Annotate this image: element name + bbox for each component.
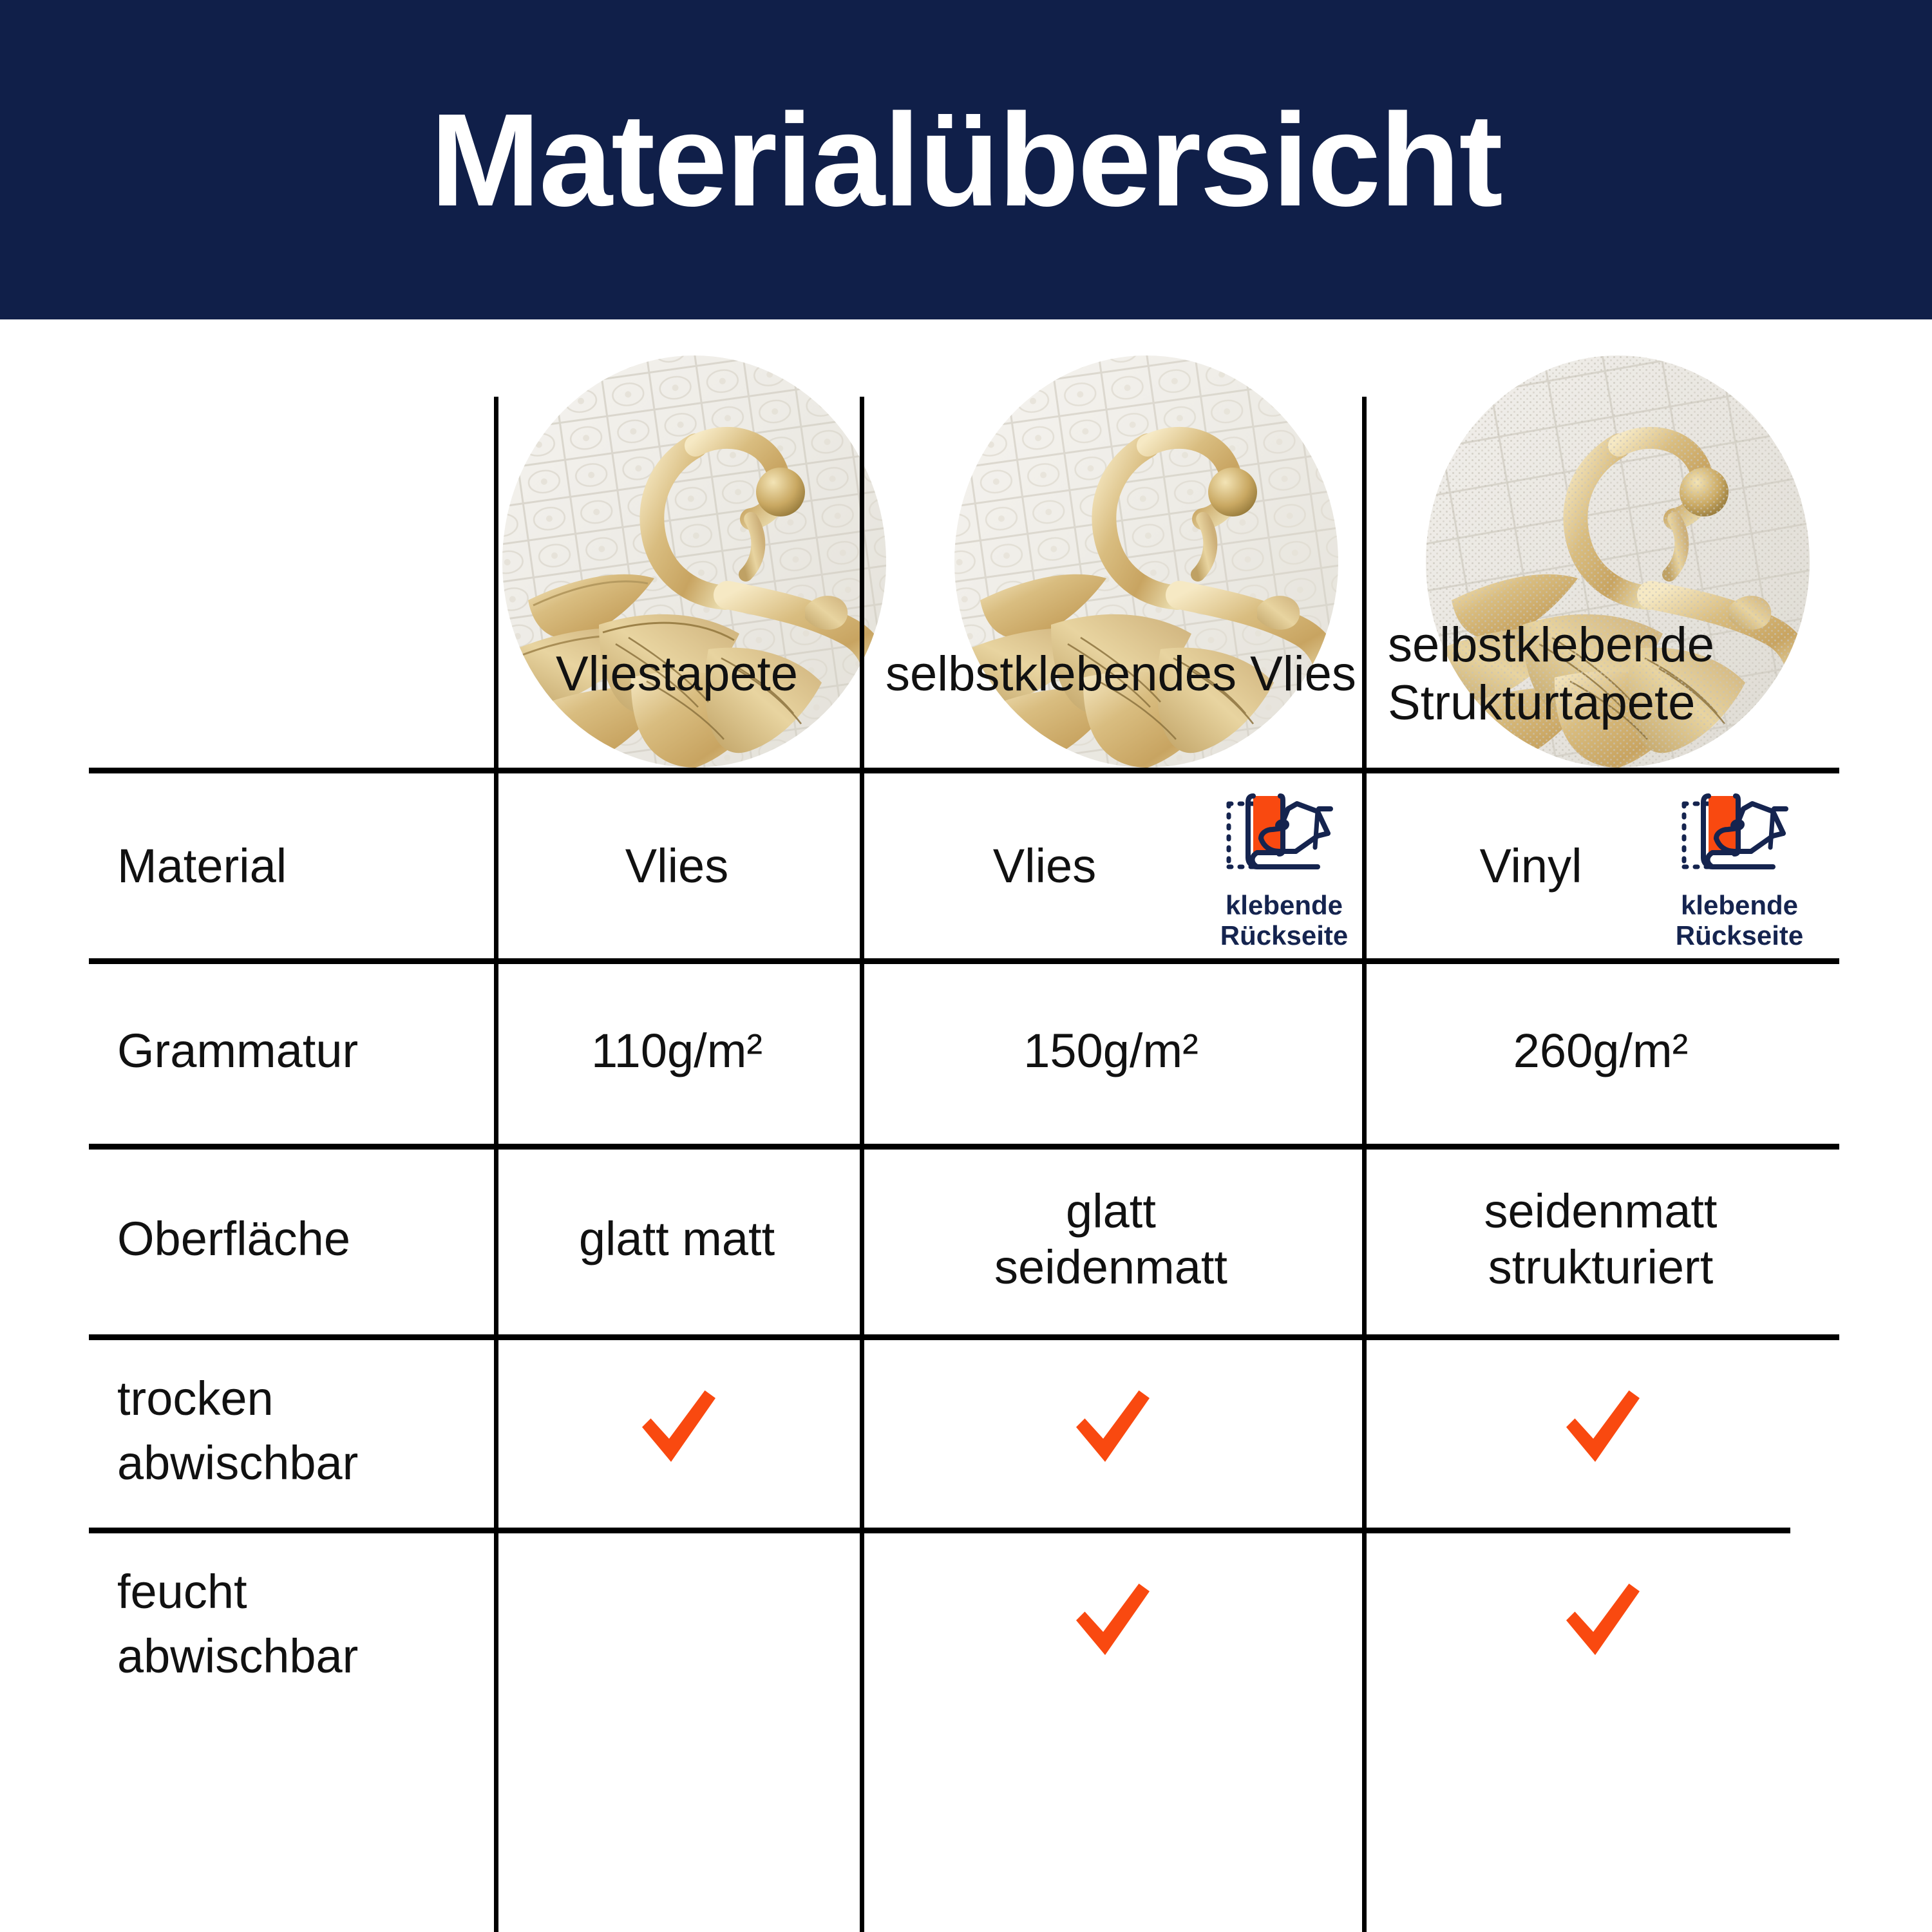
header-band: Materialübersicht xyxy=(0,0,1932,319)
cell-grammatur-col3: 260g/m² xyxy=(1362,958,1839,1144)
adhesive-backing-icon xyxy=(1676,786,1803,881)
column-header-1: Vliestapete xyxy=(494,581,860,768)
cell-oberflaeche-col1: glatt matt xyxy=(494,1144,860,1334)
cell-trocken-col2 xyxy=(860,1334,1362,1528)
checkmark-icon xyxy=(1553,1576,1649,1672)
page-title: Materialübersicht xyxy=(430,94,1501,226)
row-divider-header xyxy=(89,768,1839,773)
adhesive-backing-badge-text: klebende Rückseite xyxy=(1220,890,1348,951)
cell-trocken-col3 xyxy=(1362,1334,1839,1528)
badge-line-1: klebende xyxy=(1220,890,1348,920)
cell-material-col2: Vlies xyxy=(864,773,1225,958)
checkmark-icon xyxy=(1553,1383,1649,1479)
column-header-2: selbstklebendes Vlies xyxy=(871,581,1361,768)
cell-oberflaeche-col3: seidenmatt strukturiert xyxy=(1362,1144,1839,1334)
badge-line-2: Rückseite xyxy=(1220,920,1348,951)
column-header-3: selbstklebende Strukturtapete xyxy=(1374,581,1839,768)
cell-material-col1: Vlies xyxy=(494,773,860,958)
row-label-trocken-text: trocken abwischbar xyxy=(117,1367,452,1495)
checkmark-icon xyxy=(1063,1576,1159,1672)
material-overview-infographic: Materialübersicht xyxy=(0,0,1932,1932)
adhesive-backing-badge-col3: klebende Rückseite xyxy=(1663,786,1815,951)
adhesive-backing-icon xyxy=(1221,786,1347,881)
row-label-feucht-text: feucht abwischbar xyxy=(117,1560,452,1689)
row-label-oberflaeche: Oberfläche xyxy=(117,1144,494,1334)
cell-material-col3: Vinyl xyxy=(1367,773,1695,958)
cell-feucht-col1 xyxy=(494,1528,860,1721)
adhesive-backing-badge-text: klebende Rückseite xyxy=(1676,890,1803,951)
row-label-grammatur: Grammatur xyxy=(117,958,494,1144)
checkmark-icon xyxy=(629,1383,725,1479)
badge-line-1: klebende xyxy=(1676,890,1803,920)
adhesive-backing-badge-col2: klebende Rückseite xyxy=(1208,786,1360,951)
cell-feucht-col2 xyxy=(860,1528,1362,1721)
row-label-material: Material xyxy=(117,773,494,958)
cell-feucht-col3 xyxy=(1362,1528,1839,1721)
cell-grammatur-col1: 110g/m² xyxy=(494,958,860,1144)
cell-grammatur-col2: 150g/m² xyxy=(860,958,1362,1144)
cell-trocken-col1 xyxy=(494,1334,860,1528)
checkmark-icon xyxy=(1063,1383,1159,1479)
row-label-feucht-abwischbar: feucht abwischbar xyxy=(117,1528,494,1721)
badge-line-2: Rückseite xyxy=(1676,920,1803,951)
row-label-trocken-abwischbar: trocken abwischbar xyxy=(117,1334,494,1528)
material-comparison-table: Vliestapete selbstklebendes Vlies selbst… xyxy=(89,768,1839,1932)
cell-oberflaeche-col2: glatt seidenmatt xyxy=(860,1144,1362,1334)
